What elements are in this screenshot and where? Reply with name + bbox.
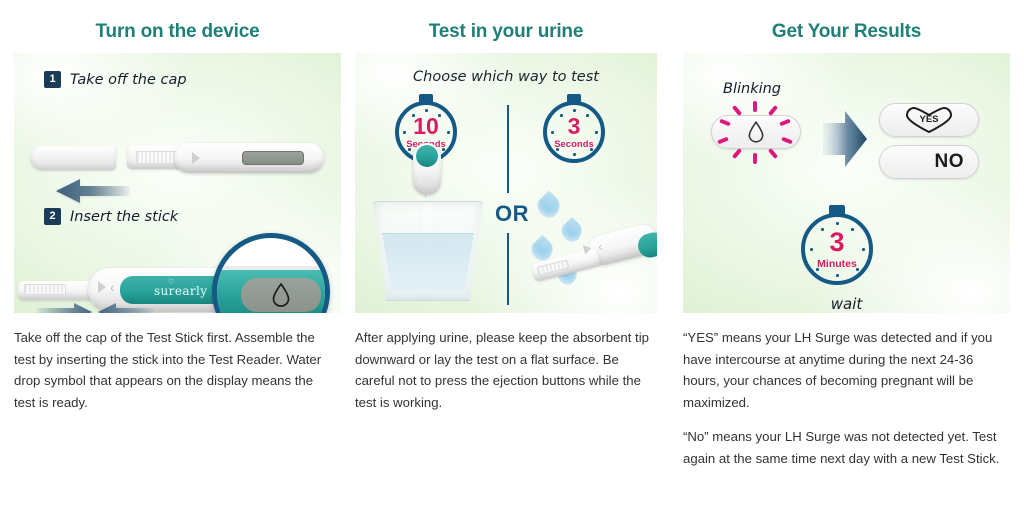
reader-display-off [242, 151, 304, 165]
column-1-paragraph-1: Take off the cap of the Test Stick first… [14, 327, 332, 413]
column-3-paragraph-2: “No” means your LH Surge was not detecte… [683, 426, 1001, 469]
stopwatch-10-number: 10 [413, 115, 439, 138]
step-1-row: 1 Take off the cap [44, 71, 187, 88]
result-no-pill: NO [879, 145, 979, 179]
step-1-label: Take off the cap [70, 72, 187, 88]
step-1-badge: 1 [44, 71, 61, 88]
divider-bottom [507, 233, 509, 305]
push-arrow-left-icon [98, 303, 154, 313]
step-2-row: 2 Insert the stick [44, 208, 178, 225]
column-2-title: Test in your urine [355, 20, 657, 44]
step-2-label: Insert the stick [70, 209, 178, 225]
result-yes-label: YES [919, 114, 938, 125]
push-arrow-right-icon [36, 303, 92, 313]
result-no-label: NO [935, 151, 965, 173]
column-1-title: Turn on the device [14, 20, 341, 44]
column-2-illustration: Choose which way to test 10 Seconds [355, 53, 657, 313]
result-arrow-icon [823, 109, 867, 169]
stopwatch-3-minutes-dial: 3 Minutes [801, 213, 873, 285]
stopwatch-3-unit: Seconds [554, 140, 594, 150]
divider-top [507, 105, 509, 193]
column-3-paragraph-1: “YES” means your LH Surge was detected a… [683, 327, 1001, 413]
eject-arrow-icon [192, 152, 200, 164]
infographic-page: Turn on the device 1 Take off the cap [0, 0, 1024, 515]
assemble-arrow-left-icon [54, 178, 130, 204]
water-drop-icon [272, 283, 290, 307]
or-label: OR [495, 201, 529, 227]
insert-arrow-icon [98, 281, 106, 293]
chevron-down-icon: ▾ [423, 188, 429, 201]
result-yes-pill: YES [879, 103, 979, 137]
stopwatch-3-dial: 3 Seconds [543, 101, 605, 163]
column-3-title: Get Your Results [683, 20, 1010, 44]
stopwatch-3-number: 3 [568, 115, 581, 138]
urine-drop-icon [533, 190, 564, 221]
assembled-absorbent-tip [24, 284, 66, 295]
column-3-illustration: Blinking [683, 53, 1010, 313]
column-2-paragraph-1: After applying urine, please keep the ab… [355, 327, 657, 413]
column-get-your-results: Get Your Results Blinking [683, 0, 1010, 482]
column-3-body: “YES” means your LH Surge was detected a… [683, 327, 1001, 469]
chevron-left-icon: ‹ [110, 281, 115, 293]
column-test-in-your-urine: Test in your urine Choose which way to t… [355, 0, 657, 426]
display-magnifier [212, 233, 330, 313]
stopwatch-3-seconds: 3 Seconds [543, 101, 605, 163]
column-1-body: Take off the cap of the Test Stick first… [14, 327, 332, 413]
stopwatch-minutes-unit: Minutes [817, 259, 857, 270]
urine-drop-icon [558, 217, 586, 245]
test-stick-cap [30, 146, 116, 170]
blinking-label: Blinking [723, 81, 781, 97]
choose-method-subtitle: Choose which way to test [355, 69, 657, 85]
cup-liquid [379, 233, 477, 295]
water-drop-icon [748, 121, 764, 143]
step-2-badge: 2 [44, 208, 61, 225]
dip-reader-teal [416, 145, 438, 167]
stopwatch-minutes-number: 3 [829, 229, 844, 256]
wait-label: wait [683, 295, 1010, 313]
column-1-illustration: 1 Take off the cap [14, 53, 341, 313]
column-2-body: After applying urine, please keep the ab… [355, 327, 657, 413]
heart-icon: YES [904, 106, 954, 134]
column-turn-on-the-device: Turn on the device 1 Take off the cap [14, 0, 341, 426]
brand-label: surearly [154, 284, 207, 298]
magnified-display [241, 278, 321, 312]
stopwatch-3-minutes: 3 Minutes [801, 213, 873, 285]
